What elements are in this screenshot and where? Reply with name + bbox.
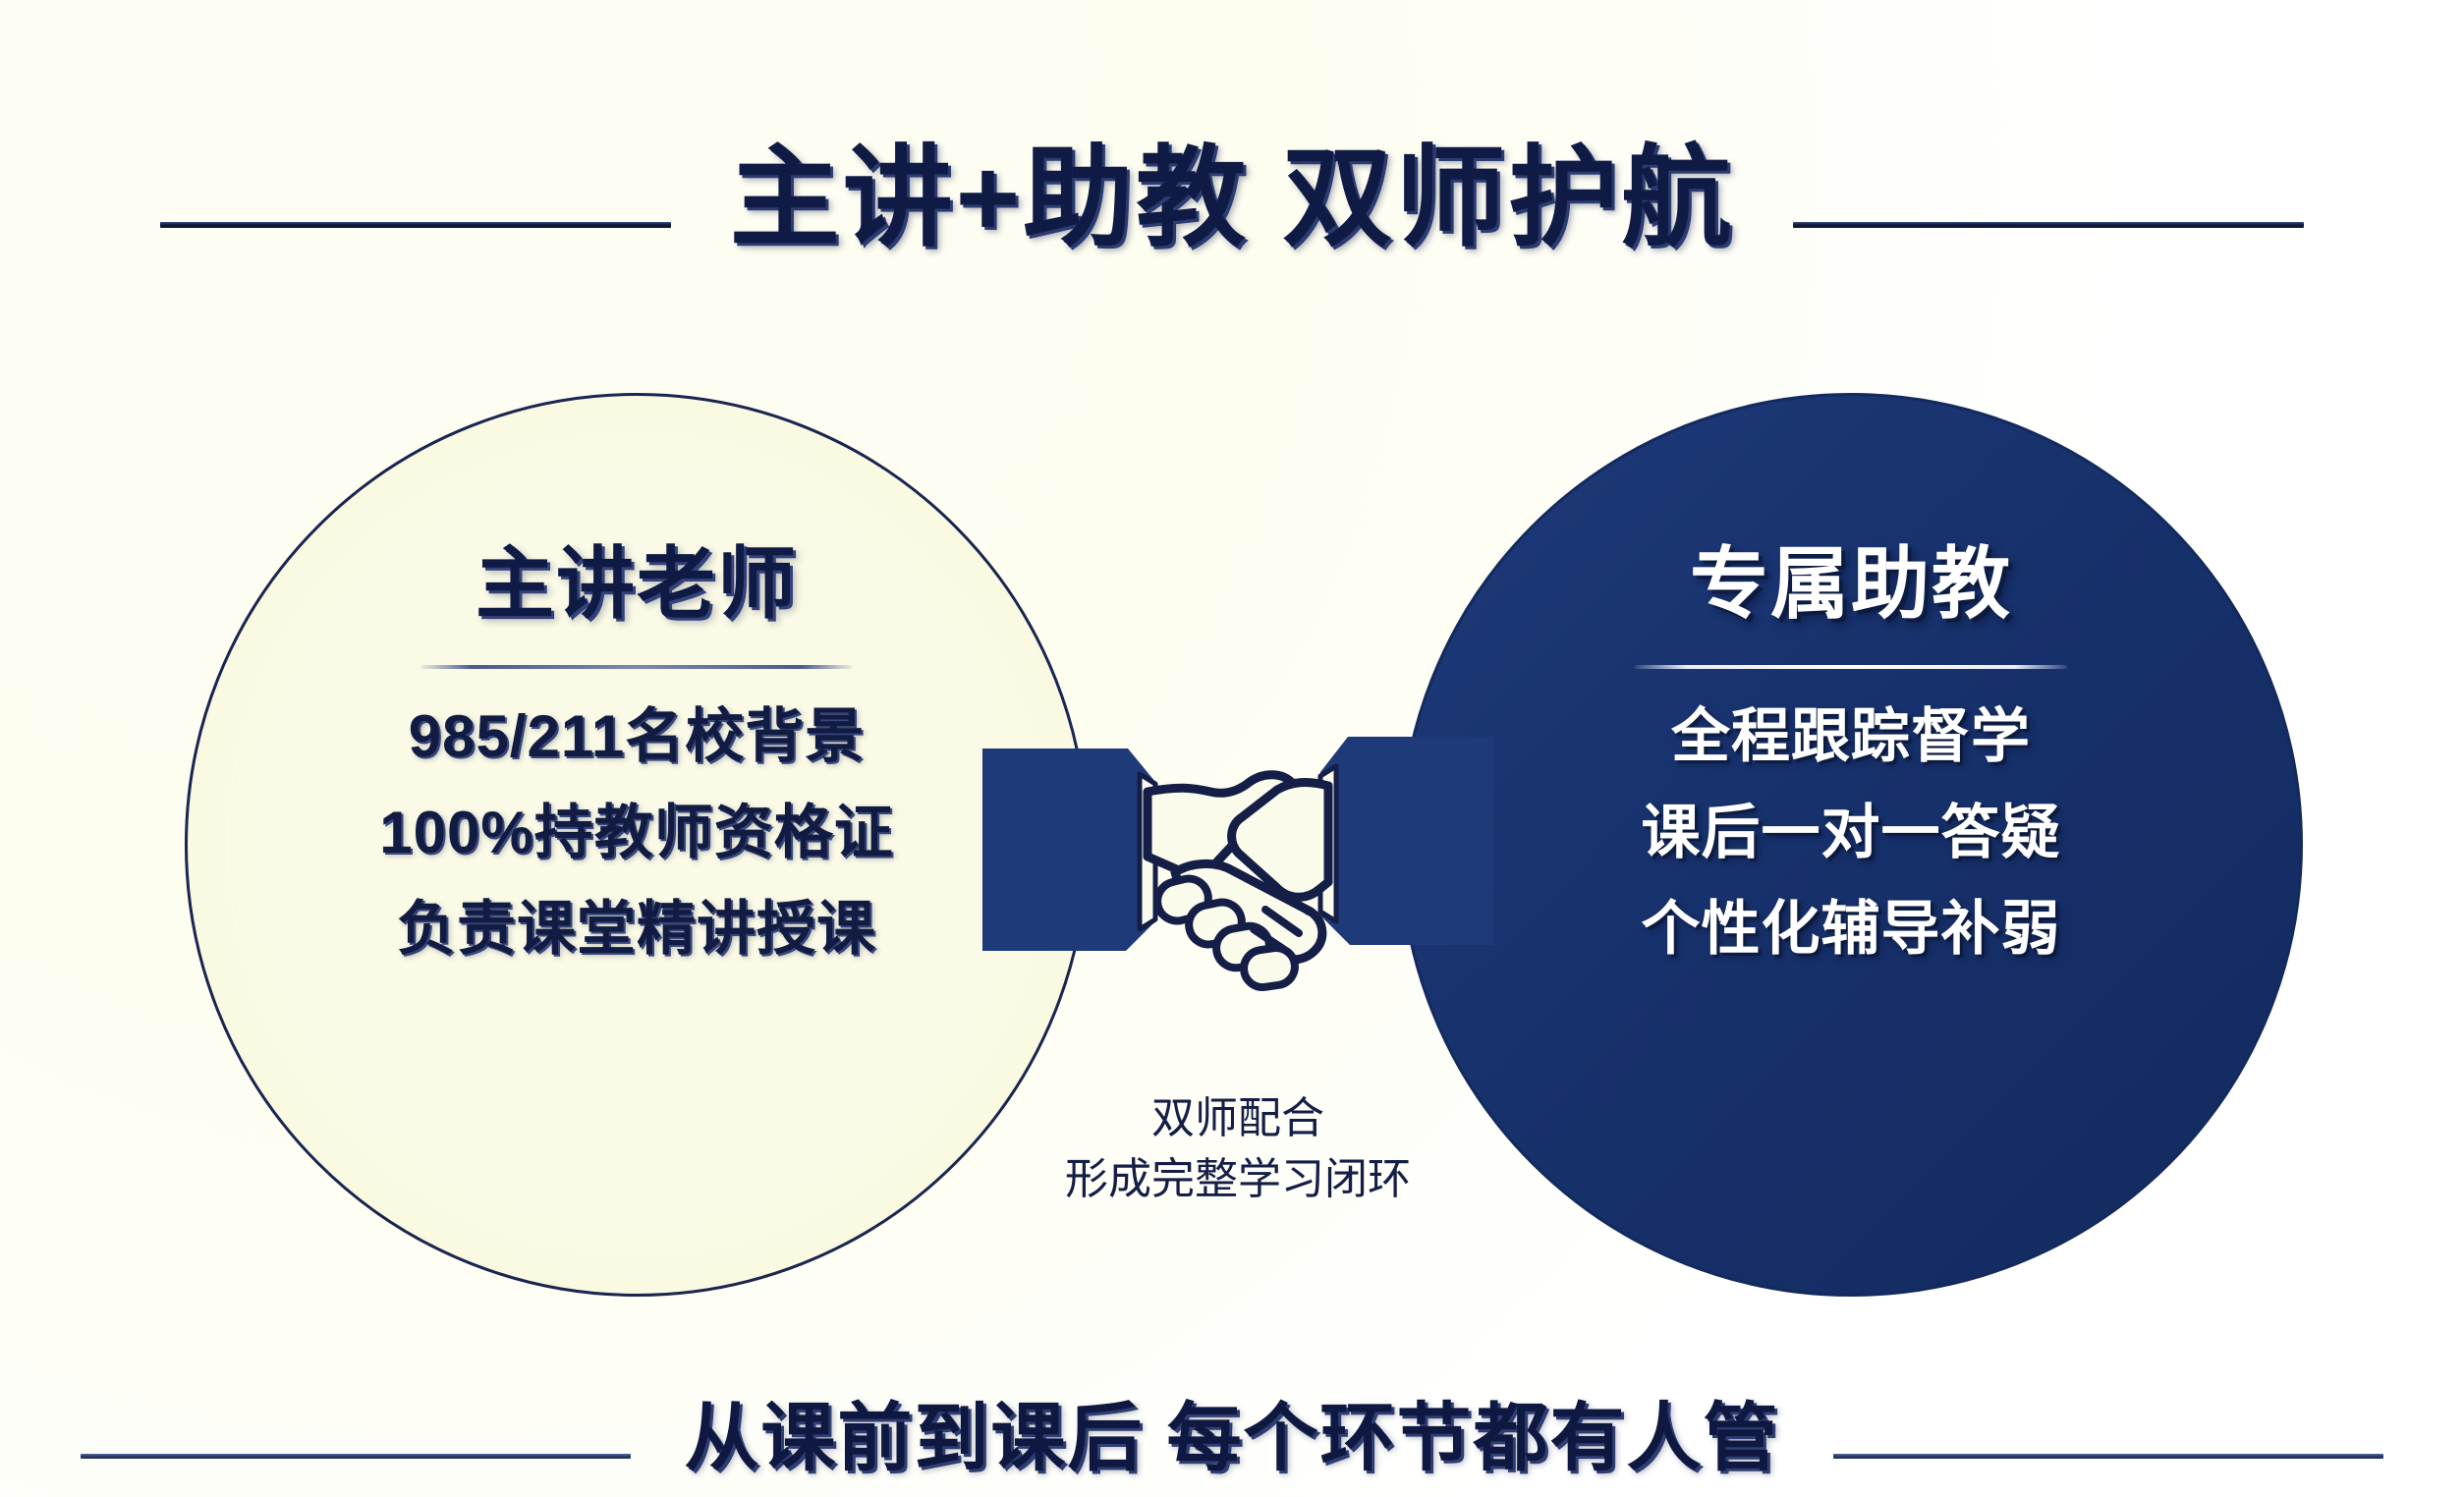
- handshake-right-hand: [1232, 783, 1328, 898]
- footer-rule-left: [81, 1454, 631, 1459]
- left-circle-list: 985/211名校背景 100%持教师资格证 负责课堂精讲授课: [379, 704, 893, 962]
- handshake-grip: [1175, 863, 1322, 960]
- left-circle-card: 主讲老师 985/211名校背景 100%持教师资格证 负责课堂精讲授课: [185, 393, 1089, 1297]
- footer-title: 从课前到课后 每个环节都有人管: [684, 1402, 1779, 1476]
- header-band: 主讲+助教 双师护航: [0, 126, 2464, 271]
- handshake-finger-lines: [1254, 890, 1309, 949]
- list-item: 课后一对一答疑: [1642, 801, 2061, 865]
- right-circle-divider: [1635, 665, 2067, 669]
- list-item: 个性化辅导补弱: [1642, 897, 2061, 962]
- footer-rule-right: [1833, 1454, 2383, 1459]
- center-caption: 双师配合 形成完整学习闭环: [982, 1088, 1493, 1211]
- left-circle-divider: [420, 665, 853, 669]
- list-item: 985/211名校背景: [409, 704, 866, 769]
- handshake-left-hand: [1148, 775, 1326, 873]
- handshake-fingers: [1153, 874, 1297, 989]
- header-rule-right: [1793, 222, 2304, 228]
- list-item: 100%持教师资格证: [379, 801, 893, 865]
- list-item: 全程跟踪督学: [1671, 704, 2031, 769]
- footer-band: 从课前到课后 每个环节都有人管: [0, 1380, 2464, 1497]
- list-item: 负责课堂精讲授课: [397, 897, 876, 962]
- page-title: 主讲+助教 双师护航: [730, 143, 1735, 253]
- center-caption-line1: 双师配合: [982, 1088, 1493, 1149]
- right-circle-card: 专属助教 全程跟踪督学 课后一对一答疑 个性化辅导补弱: [1399, 393, 2303, 1297]
- right-circle-list: 全程跟踪督学 课后一对一答疑 个性化辅导补弱: [1642, 704, 2061, 962]
- center-caption-line2: 形成完整学习闭环: [982, 1149, 1493, 1210]
- infographic-canvas: 主讲+助教 双师护航 主讲老师 985/211名校背景 100%持教师资格证 负…: [0, 0, 2464, 1497]
- right-circle-heading: 专属助教: [1690, 545, 2012, 624]
- left-circle-heading: 主讲老师: [476, 545, 798, 624]
- header-rule-left: [160, 222, 671, 228]
